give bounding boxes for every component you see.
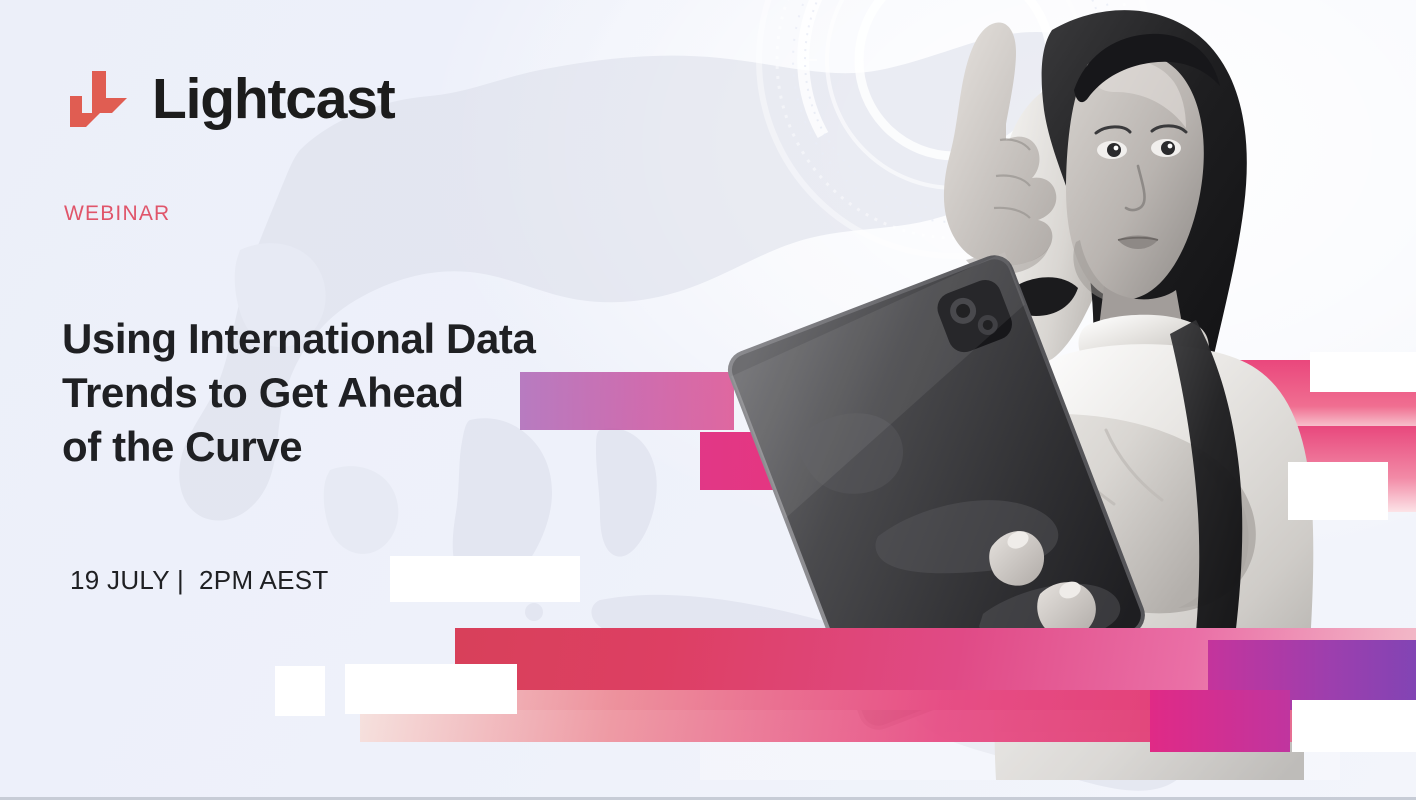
webinar-promo-banner: Lightcast WEBINAR Using International Da…	[0, 0, 1416, 800]
white-block-top-right	[1310, 352, 1416, 392]
lightcast-chevrons-icon	[62, 66, 134, 132]
tech-hud-rings-icon	[745, 0, 1165, 270]
content-column: Lightcast WEBINAR Using International Da…	[0, 0, 700, 800]
white-block-bottom-right	[1292, 700, 1416, 752]
lightcast-wordmark: Lightcast	[152, 71, 395, 128]
event-datetime: 19 JULY | 2PM AEST	[70, 565, 329, 596]
eyebrow-label: WEBINAR	[64, 202, 170, 226]
page-title: Using International Data Trends to Get A…	[62, 312, 662, 474]
decor-bar-purple-b	[1150, 690, 1290, 752]
headline-line-1: Using International Data	[62, 312, 662, 366]
lightcast-logo[interactable]: Lightcast	[62, 66, 395, 132]
headline-line-3: of the Curve	[62, 420, 662, 474]
white-block-mid-right	[1288, 462, 1388, 520]
headline-line-2: Trends to Get Ahead	[62, 366, 662, 420]
decor-bar-magenta-mid	[700, 432, 1000, 490]
